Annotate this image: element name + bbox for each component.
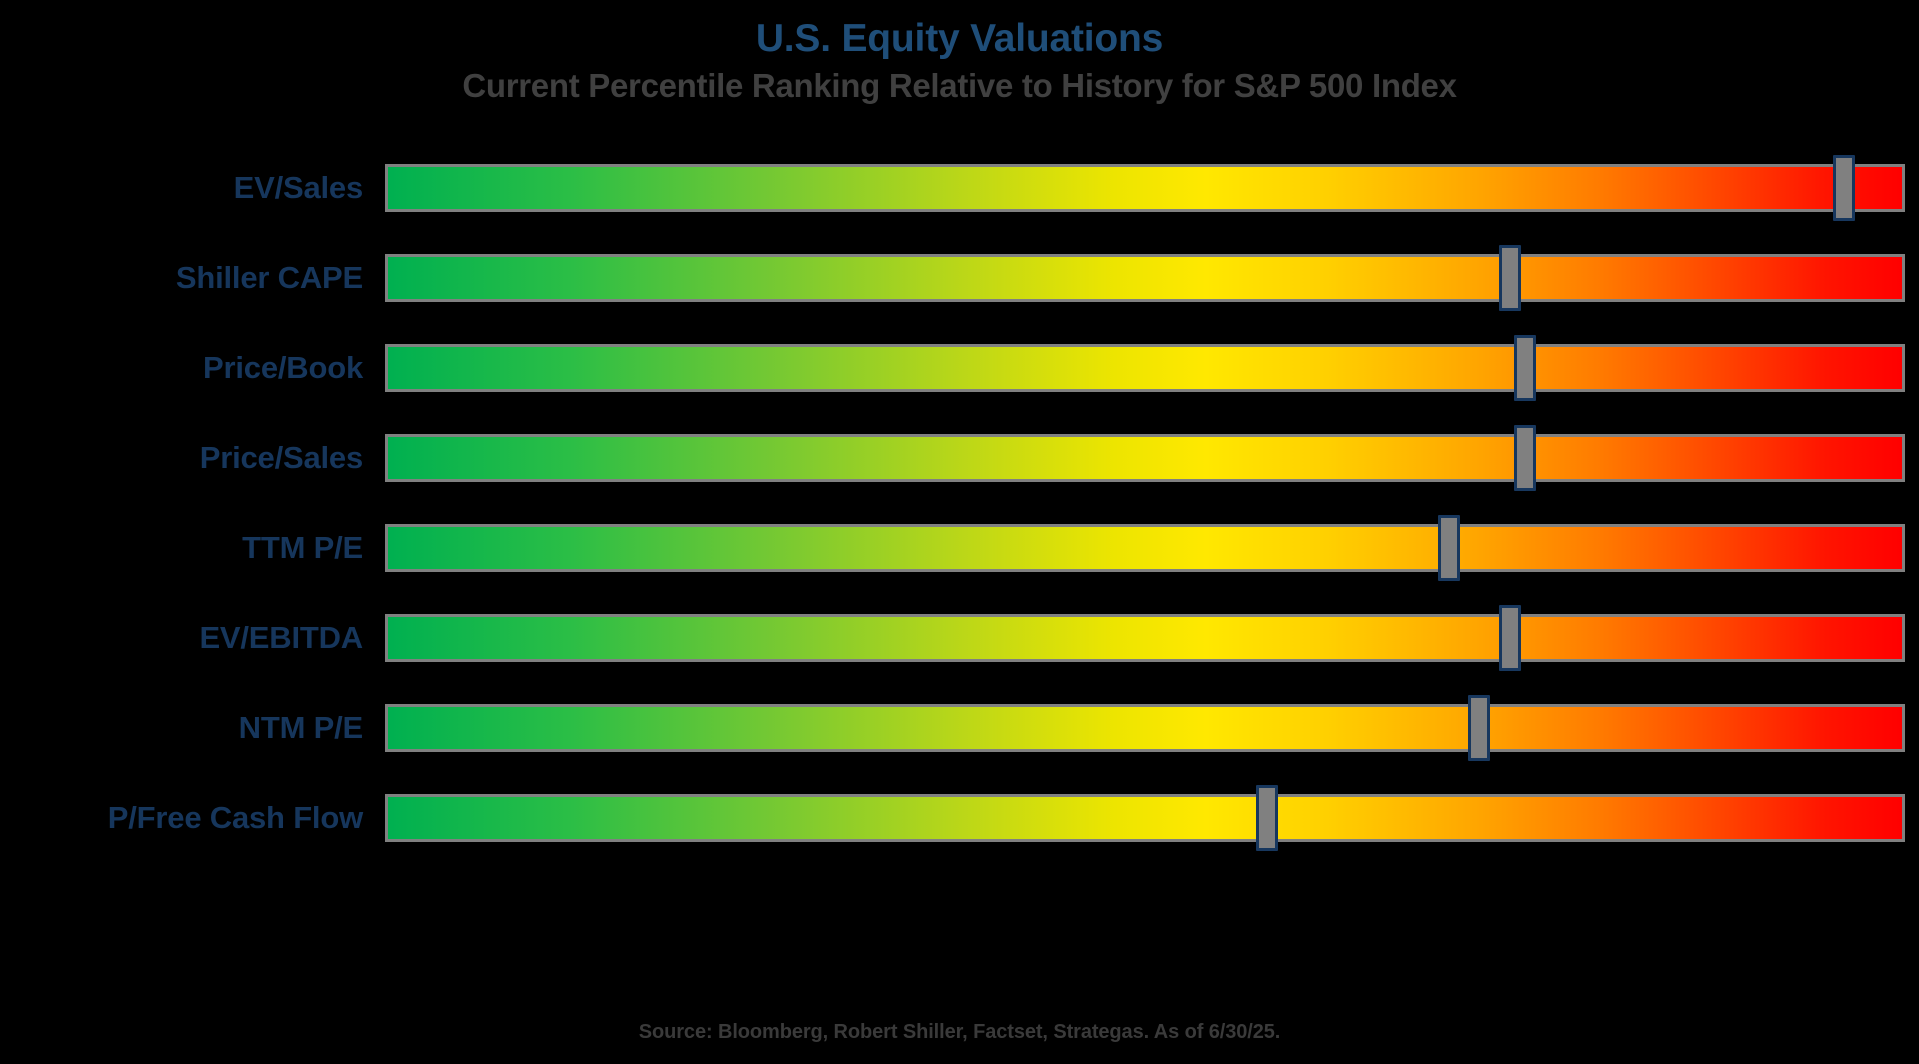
gradient-track-wrap <box>385 524 1905 572</box>
row-label-price-sales: Price/Sales <box>0 413 363 503</box>
gradient-track-wrap <box>385 254 1905 302</box>
row-label-ev-sales: EV/Sales <box>0 143 363 233</box>
gradient-track <box>385 704 1905 752</box>
row-label-p-free-cash-flow: P/Free Cash Flow <box>0 773 363 863</box>
gradient-track-wrap <box>385 344 1905 392</box>
gradient-track-wrap <box>385 164 1905 212</box>
gradient-track-wrap <box>385 614 1905 662</box>
chart-plot-area: EV/SalesShiller CAPEPrice/BookPrice/Sale… <box>0 131 1919 1011</box>
gradient-track-wrap <box>385 704 1905 752</box>
percentile-marker <box>1499 605 1521 671</box>
gradient-track-wrap <box>385 794 1905 842</box>
row-label-shiller-cape: Shiller CAPE <box>0 233 363 323</box>
row-label-price-book: Price/Book <box>0 323 363 413</box>
chart-row: Price/Sales <box>0 413 1919 503</box>
chart-row: TTM P/E <box>0 503 1919 593</box>
percentile-marker <box>1514 335 1536 401</box>
chart-row: NTM P/E <box>0 683 1919 773</box>
chart-row: P/Free Cash Flow <box>0 773 1919 863</box>
chart-page: U.S. Equity Valuations Current Percentil… <box>0 0 1919 1064</box>
row-label-ev-ebitda: EV/EBITDA <box>0 593 363 683</box>
gradient-track <box>385 794 1905 842</box>
gradient-track <box>385 164 1905 212</box>
page-title: U.S. Equity Valuations <box>0 16 1919 62</box>
percentile-marker <box>1468 695 1490 761</box>
chart-row: EV/EBITDA <box>0 593 1919 683</box>
gradient-track <box>385 614 1905 662</box>
percentile-marker <box>1438 515 1460 581</box>
gradient-track <box>385 254 1905 302</box>
chart-row: EV/Sales <box>0 143 1919 233</box>
chart-row: Price/Book <box>0 323 1919 413</box>
percentile-marker <box>1499 245 1521 311</box>
page-subtitle: Current Percentile Ranking Relative to H… <box>0 66 1919 106</box>
percentile-marker <box>1514 425 1536 491</box>
row-label-ntm-p-e: NTM P/E <box>0 683 363 773</box>
percentile-marker <box>1833 155 1855 221</box>
percentile-marker <box>1256 785 1278 851</box>
gradient-track <box>385 344 1905 392</box>
gradient-track <box>385 434 1905 482</box>
gradient-track <box>385 524 1905 572</box>
source-note: Source: Bloomberg, Robert Shiller, Facts… <box>0 1021 1919 1044</box>
row-label-ttm-p-e: TTM P/E <box>0 503 363 593</box>
gradient-track-wrap <box>385 434 1905 482</box>
chart-row: Shiller CAPE <box>0 233 1919 323</box>
